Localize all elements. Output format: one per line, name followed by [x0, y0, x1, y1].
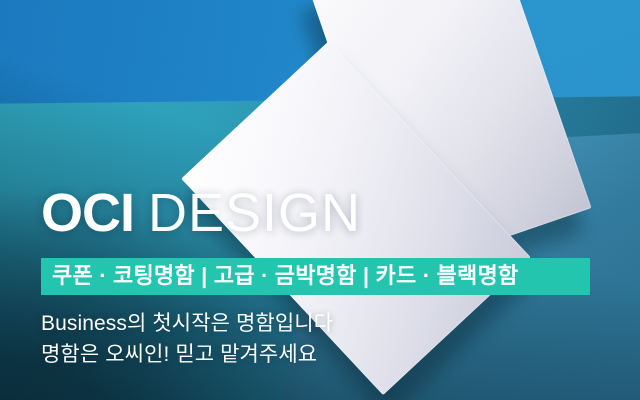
tagline-line-1: Business의 첫시작은 명함입니다 — [41, 309, 601, 339]
tagline-line-2: 명함은 오씨인! 믿고 맡겨주세요 — [41, 340, 601, 370]
oci-design-banner[interactable]: OCIDESIGN 쿠폰 · 코팅명함 | 고급 · 금박명함 | 카드 · 블… — [0, 0, 640, 400]
product-categories-ribbon[interactable]: 쿠폰 · 코팅명함 | 고급 · 금박명함 | 카드 · 블랙명함 — [41, 258, 590, 295]
product-categories-text: 쿠폰 · 코팅명함 | 고급 · 금박명함 | 카드 · 블랙명함 — [52, 264, 579, 287]
brand-name: OCI — [41, 183, 134, 243]
banner-tagline: Business의 첫시작은 명함입니다 명함은 오씨인! 믿고 맡겨주세요 — [41, 309, 601, 370]
banner-headline: OCIDESIGN — [41, 186, 601, 240]
headline-word-design: DESIGN — [148, 183, 361, 243]
banner-content: OCIDESIGN 쿠폰 · 코팅명함 | 고급 · 금박명함 | 카드 · 블… — [41, 186, 601, 370]
